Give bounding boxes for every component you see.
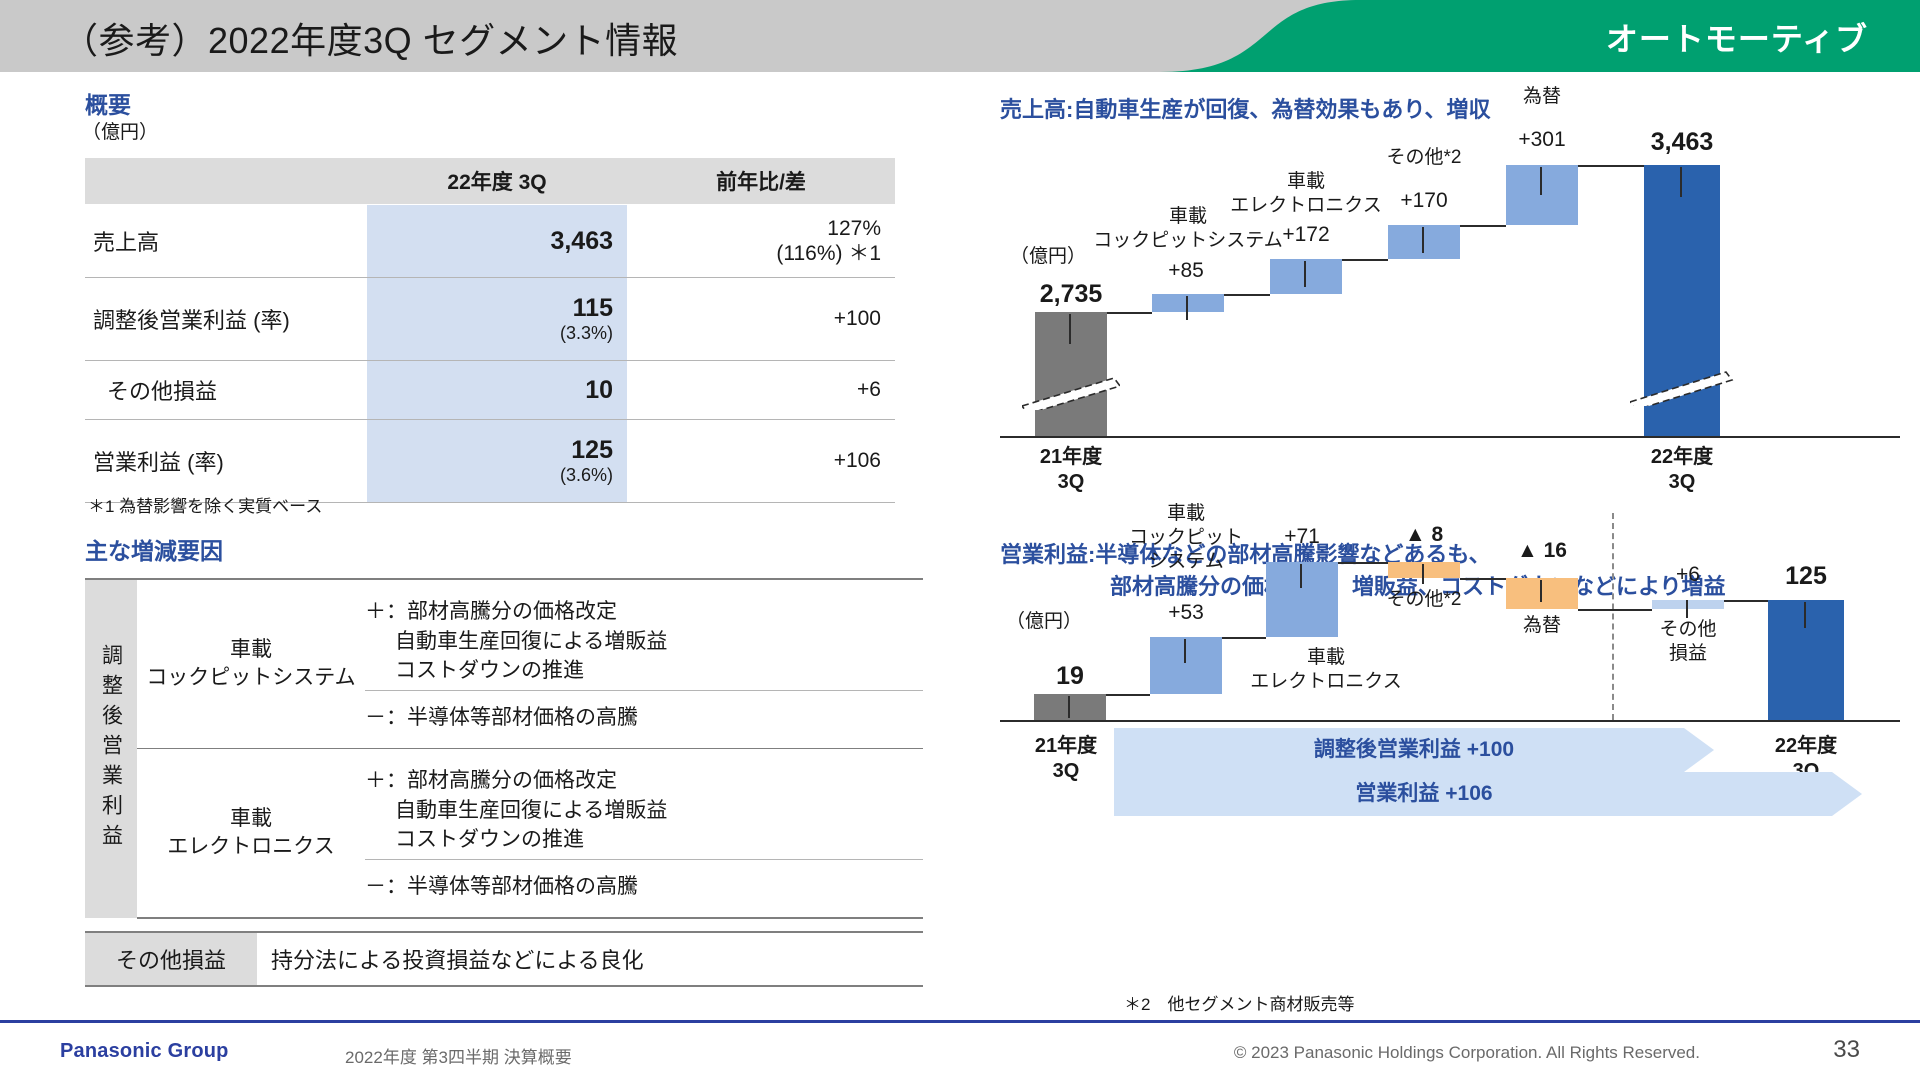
sales-label-fx: 為替 bbox=[1482, 85, 1602, 109]
profit-label-electronics-l2: エレクトロニクス bbox=[1238, 670, 1414, 694]
profit-waterfall-chart: （億円） 19 車載 コックピット システム +53 車載 エレクトロニクス +… bbox=[1000, 610, 1900, 910]
profit-value-cockpit: +53 bbox=[1126, 600, 1246, 626]
sales-connector-1 bbox=[1107, 312, 1152, 314]
profit-value-other-income: +6 bbox=[1628, 562, 1748, 588]
sales-value-electronics: +172 bbox=[1246, 222, 1366, 248]
profit-label-cockpit: 車載 コックピット システム bbox=[1120, 502, 1252, 573]
sales-axis-break-start bbox=[1022, 376, 1120, 410]
sales-x-label-end: 22年度 3Q bbox=[1622, 445, 1742, 495]
chart-footnote-2: ＊2 他セグメント商材販売等 bbox=[1124, 990, 1354, 1015]
sales-bar-other bbox=[1388, 225, 1460, 259]
table-row: 売上高 3,463 127% (116%) ＊1 bbox=[85, 205, 895, 278]
table-header-row: 22年度 3Q 前年比/差 bbox=[85, 158, 895, 205]
profit-label-electronics: 車載 エレクトロニクス bbox=[1238, 646, 1414, 694]
sales-value-cockpit: +85 bbox=[1126, 258, 1246, 284]
other-income-value: 10 bbox=[367, 376, 613, 405]
sales-connector-5 bbox=[1578, 165, 1644, 167]
factor-other-income-value: 持分法による投資損益などによる良化 bbox=[257, 933, 923, 985]
factors-side-label: 調整後営業利益 bbox=[101, 644, 122, 854]
profit-arrow-operating: 営業利益 +106 bbox=[1114, 772, 1862, 816]
profit-arrow-operating-head bbox=[1832, 772, 1862, 816]
sales-bar-electronics bbox=[1270, 259, 1342, 294]
profit-label-electronics-l1: 車載 bbox=[1238, 646, 1414, 670]
profit-label-cockpit-l3: システム bbox=[1120, 550, 1252, 574]
factors-table: 調整後営業利益 車載 コックピットシステム ＋：部材高騰分の価格改定 自動車生産… bbox=[85, 578, 923, 987]
adjusted-op-margin: (3.3%) bbox=[367, 323, 613, 344]
profit-bar-end bbox=[1768, 600, 1844, 720]
sales-tick-start bbox=[1069, 314, 1071, 344]
operating-profit-diff: +106 bbox=[627, 448, 881, 473]
profit-value-fx: ▲ 16 bbox=[1482, 538, 1602, 564]
profit-label-other-income: その他 損益 bbox=[1628, 618, 1748, 666]
factor-negative-cockpit: －：半導体等部材価格の高騰 bbox=[365, 690, 923, 741]
profit-tick-cockpit bbox=[1184, 639, 1186, 663]
factor-segment-electronics-line2: エレクトロニクス bbox=[167, 833, 334, 861]
brand-logo: Panasonic Group bbox=[60, 1040, 229, 1063]
table-row: 調整後営業利益 (率) 115 (3.3%) +100 bbox=[85, 278, 895, 361]
row-label-adjusted-op: 調整後営業利益 (率) bbox=[85, 278, 367, 361]
sales-x-label-end-l2: 3Q bbox=[1622, 470, 1742, 495]
row-value-operating-profit: 125 (3.6%) bbox=[367, 420, 627, 503]
sales-bar-fx bbox=[1506, 165, 1578, 225]
profit-arrow-adjusted-label: 調整後営業利益 +100 bbox=[1114, 728, 1714, 772]
factor-positive-electronics-1: ＋：部材高騰分の価格改定 bbox=[365, 766, 923, 796]
factor-items-cockpit: ＋：部材高騰分の価格改定 自動車生産回復による増販益 コストダウンの推進 －：半… bbox=[365, 580, 923, 748]
profit-label-other: その他*2 bbox=[1364, 588, 1484, 612]
profit-value-end: 125 bbox=[1746, 562, 1866, 591]
col-header-yoy: 前年比/差 bbox=[627, 158, 895, 205]
table-row: その他損益 10 +6 bbox=[85, 361, 895, 420]
profit-tick-electronics bbox=[1300, 564, 1302, 588]
profit-label-cockpit-l1: 車載 bbox=[1120, 502, 1252, 526]
row-diff-operating-profit: +106 bbox=[627, 420, 895, 503]
slide-root: （参考）2022年度3Q セグメント情報 オートモーティブ 概要 （億円） 22… bbox=[0, 0, 1920, 1081]
sales-bar-cockpit bbox=[1152, 294, 1224, 312]
profit-x-label-start: 21年度 3Q bbox=[1006, 734, 1126, 784]
table-row: 営業利益 (率) 125 (3.6%) +106 bbox=[85, 420, 895, 503]
profit-x-label-start-l2: 3Q bbox=[1006, 759, 1126, 784]
profit-value-start: 19 bbox=[1018, 662, 1122, 691]
profit-x-label-start-l1: 21年度 bbox=[1006, 734, 1126, 759]
profit-x-axis bbox=[1000, 720, 1900, 722]
sales-x-label-start: 21年度 3Q bbox=[1011, 445, 1131, 495]
profit-bar-other-income bbox=[1652, 600, 1724, 609]
profit-connector-1 bbox=[1106, 694, 1150, 696]
footer-copyright: © 2023 Panasonic Holdings Corporation. A… bbox=[1234, 1043, 1700, 1063]
page-number: 33 bbox=[1833, 1036, 1860, 1064]
row-label-revenue: 売上高 bbox=[85, 205, 367, 278]
adjusted-op-diff: +100 bbox=[627, 306, 881, 331]
profit-connector-5 bbox=[1578, 609, 1652, 611]
profit-value-electronics: +71 bbox=[1242, 524, 1362, 550]
factor-negative-electronics: －：半導体等部材価格の高騰 bbox=[365, 859, 923, 910]
factors-heading: 主な増減要因 bbox=[85, 532, 223, 566]
sales-tick-end bbox=[1680, 167, 1682, 197]
sales-waterfall-chart: （億円） 2,735 車載 コックピットシステム +85 車載 エレクトロニクス… bbox=[1000, 130, 1900, 480]
factor-segment-cockpit-line2: コックピットシステム bbox=[146, 664, 355, 692]
profit-x-label-end-l1: 22年度 bbox=[1746, 734, 1866, 759]
factor-positive-cockpit-1: ＋：部材高騰分の価格改定 bbox=[365, 597, 923, 627]
profit-label-other-income-l2: 損益 bbox=[1628, 642, 1748, 666]
summary-footnote: ＊1 為替影響を除く実質ベース bbox=[88, 492, 322, 517]
profit-bar-electronics bbox=[1266, 562, 1338, 637]
sales-value-end: 3,463 bbox=[1622, 128, 1742, 157]
row-label-operating-profit: 営業利益 (率) bbox=[85, 420, 367, 503]
summary-table: 22年度 3Q 前年比/差 売上高 3,463 127% (116%) ＊1 調… bbox=[85, 158, 895, 503]
sales-axis-break-end bbox=[1630, 370, 1734, 406]
profit-bar-other bbox=[1388, 562, 1460, 578]
revenue-diff-1: 127% bbox=[627, 216, 881, 241]
sales-x-label-start-l2: 3Q bbox=[1011, 470, 1131, 495]
col-header-blank bbox=[85, 158, 367, 205]
row-diff-other-income: +6 bbox=[627, 361, 895, 420]
row-label-other-income: その他損益 bbox=[85, 361, 367, 420]
factor-positive-cockpit: ＋：部材高騰分の価格改定 自動車生産回復による増販益 コストダウンの推進 bbox=[365, 587, 923, 690]
factor-other-income-row: その他損益 持分法による投資損益などによる良化 bbox=[85, 931, 923, 987]
profit-unit-label: （億円） bbox=[1006, 610, 1082, 634]
factor-positive-cockpit-3: コストダウンの推進 bbox=[365, 656, 923, 686]
row-diff-adjusted-op: +100 bbox=[627, 278, 895, 361]
operating-profit-value: 125 bbox=[367, 436, 613, 465]
page-title: （参考）2022年度3Q セグメント情報 bbox=[62, 12, 678, 64]
profit-label-cockpit-l2: コックピット bbox=[1120, 526, 1252, 550]
revenue-value: 3,463 bbox=[367, 227, 613, 256]
summary-heading: 概要 bbox=[85, 86, 131, 120]
profit-bar-cockpit bbox=[1150, 637, 1222, 694]
profit-connector-6 bbox=[1724, 600, 1768, 602]
profit-label-fx: 為替 bbox=[1482, 614, 1602, 638]
sales-connector-2 bbox=[1224, 294, 1270, 296]
factor-block-electronics: 車載 エレクトロニクス ＋：部材高騰分の価格改定 自動車生産回復による増販益 コ… bbox=[137, 749, 923, 919]
sales-bar-start bbox=[1035, 312, 1107, 436]
sales-value-fx: +301 bbox=[1482, 127, 1602, 153]
factor-segment-electronics: 車載 エレクトロニクス bbox=[137, 749, 365, 917]
factor-segment-cockpit-line1: 車載 bbox=[146, 636, 355, 664]
profit-bar-fx bbox=[1506, 578, 1578, 609]
sales-connector-4 bbox=[1460, 225, 1506, 227]
sales-tick-electronics bbox=[1304, 261, 1306, 287]
slide-header: （参考）2022年度3Q セグメント情報 オートモーティブ bbox=[0, 0, 1920, 72]
factors-side-label-cell: 調整後営業利益 bbox=[85, 580, 137, 918]
profit-tick-start bbox=[1068, 696, 1070, 718]
factor-positive-electronics-2: 自動車生産回復による増販益 bbox=[365, 796, 923, 826]
summary-unit-label: （億円） bbox=[82, 117, 158, 144]
profit-label-other-income-l1: その他 bbox=[1628, 618, 1748, 642]
sales-tick-fx bbox=[1540, 167, 1542, 195]
profit-connector-3 bbox=[1338, 562, 1388, 564]
row-value-revenue: 3,463 bbox=[367, 205, 627, 278]
row-value-adjusted-op: 115 (3.3%) bbox=[367, 278, 627, 361]
sales-x-label-end-l1: 22年度 bbox=[1622, 445, 1742, 470]
sales-connector-3 bbox=[1342, 259, 1388, 261]
factor-segment-cockpit: 車載 コックピットシステム bbox=[137, 580, 365, 748]
revenue-diff-2: (116%) ＊1 bbox=[627, 241, 881, 266]
sales-x-label-start-l1: 21年度 bbox=[1011, 445, 1131, 470]
col-header-current: 22年度 3Q bbox=[367, 158, 627, 205]
profit-connector-2 bbox=[1222, 637, 1266, 639]
profit-tick-end bbox=[1804, 602, 1806, 628]
factor-items-electronics: ＋：部材高騰分の価格改定 自動車生産回復による増販益 コストダウンの推進 －：半… bbox=[365, 749, 923, 917]
segment-badge: オートモーティブ bbox=[1606, 14, 1868, 60]
sales-value-other: +170 bbox=[1364, 188, 1484, 214]
adjusted-op-value: 115 bbox=[367, 294, 613, 323]
factor-block-cockpit: 車載 コックピットシステム ＋：部材高騰分の価格改定 自動車生産回復による増販益… bbox=[137, 580, 923, 749]
factor-other-income-key: その他損益 bbox=[85, 933, 257, 985]
sales-tick-other bbox=[1422, 227, 1424, 253]
footer-document-title: 2022年度 第3四半期 決算概要 bbox=[345, 1043, 572, 1068]
profit-tick-fx bbox=[1540, 580, 1542, 602]
profit-arrow-operating-label: 営業利益 +106 bbox=[1114, 772, 1734, 816]
profit-connector-4 bbox=[1460, 578, 1506, 580]
profit-tick-other-income bbox=[1686, 600, 1688, 618]
factor-positive-cockpit-2: 自動車生産回復による増販益 bbox=[365, 627, 923, 657]
operating-profit-margin: (3.6%) bbox=[367, 465, 613, 486]
profit-arrow-adjusted: 調整後営業利益 +100 bbox=[1114, 728, 1714, 772]
sales-chart-title: 売上高:自動車生産が回復、為替効果もあり、増収 bbox=[1000, 95, 1490, 125]
factor-segment-electronics-line1: 車載 bbox=[167, 805, 334, 833]
profit-value-other: ▲ 8 bbox=[1364, 522, 1484, 548]
factor-positive-electronics: ＋：部材高騰分の価格改定 自動車生産回復による増販益 コストダウンの推進 bbox=[365, 756, 923, 859]
profit-divider-line bbox=[1612, 513, 1614, 720]
factor-positive-electronics-3: コストダウンの推進 bbox=[365, 825, 923, 855]
other-income-diff: +6 bbox=[627, 377, 881, 402]
profit-bar-start bbox=[1034, 694, 1106, 720]
sales-label-other: その他*2 bbox=[1364, 146, 1484, 170]
sales-unit-label: （億円） bbox=[1010, 245, 1086, 269]
sales-x-axis bbox=[1000, 436, 1900, 438]
sales-value-start: 2,735 bbox=[1011, 280, 1131, 309]
profit-tick-other bbox=[1422, 564, 1424, 584]
footer-divider bbox=[0, 1020, 1920, 1023]
row-diff-revenue: 127% (116%) ＊1 bbox=[627, 205, 895, 278]
sales-tick-cockpit bbox=[1186, 296, 1188, 320]
row-value-other-income: 10 bbox=[367, 361, 627, 420]
